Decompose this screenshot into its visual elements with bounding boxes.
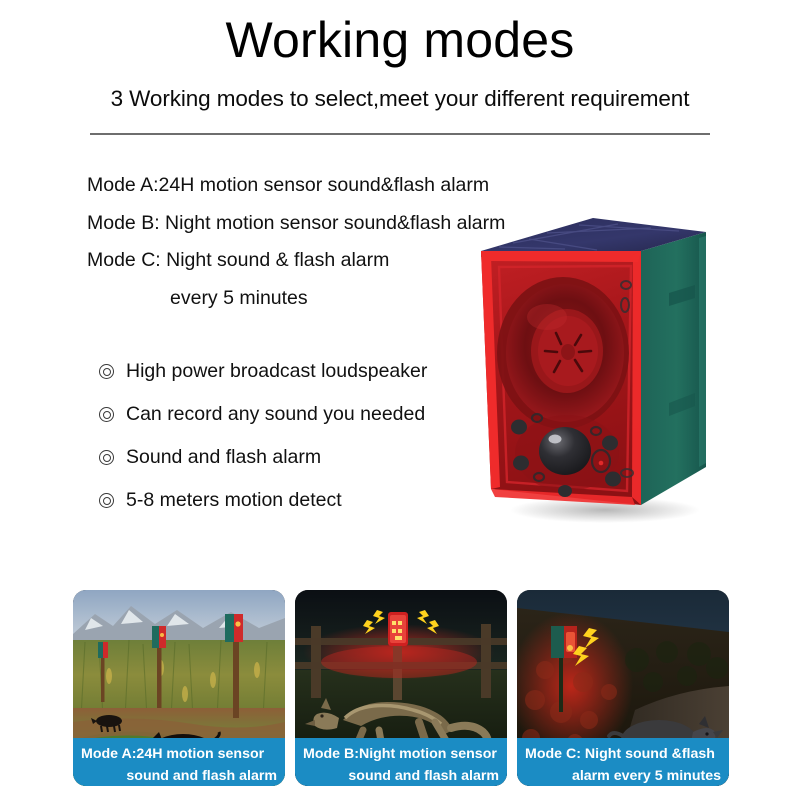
scenario-panel-b[interactable]: Mode B:Night motion sensor sound and fla…: [295, 590, 507, 786]
double-circle-icon: [99, 364, 114, 379]
product-feature-page: Working modes 3 Working modes to select,…: [0, 0, 800, 800]
horn-speaker-center: [561, 344, 575, 360]
product-device-image: [455, 205, 720, 525]
panel-caption: Mode C: Night sound &flash alarm every 5…: [517, 738, 729, 786]
feature-label: Sound and flash alarm: [126, 446, 321, 469]
device-front-rim-top: [481, 251, 641, 262]
panel-caption: Mode B:Night motion sensor sound and fla…: [295, 738, 507, 786]
double-circle-icon: [99, 493, 114, 508]
feature-label: Can record any sound you needed: [126, 403, 425, 426]
caption-line-1: Mode A:24H motion sensor: [81, 746, 264, 762]
caption-line-1: Mode C: Night sound &flash: [525, 746, 715, 762]
caption-line-2: alarm every 5 minutes: [525, 765, 721, 786]
scenario-panels: Mode A:24H motion sensor sound and flash…: [73, 590, 729, 786]
caption-line-1: Mode B:Night motion sensor: [303, 746, 497, 762]
pir-sensor-dome: [539, 427, 591, 475]
double-circle-icon: [99, 407, 114, 422]
caption-line-2: sound and flash alarm: [81, 765, 277, 786]
panel-caption: Mode A:24H motion sensor sound and flash…: [73, 738, 285, 786]
double-circle-icon: [99, 450, 114, 465]
device-body-highlight: [699, 236, 706, 467]
scenario-panel-a[interactable]: Mode A:24H motion sensor sound and flash…: [73, 590, 285, 786]
device-body-side: [641, 232, 706, 505]
feature-label: High power broadcast loudspeaker: [126, 360, 427, 383]
device-front-rim-right: [632, 251, 641, 505]
indicator-led: [599, 461, 604, 466]
pir-dome-glint: [549, 435, 562, 444]
caption-line-2: sound and flash alarm: [303, 765, 499, 786]
scenario-panel-c[interactable]: Mode C: Night sound &flash alarm every 5…: [517, 590, 729, 786]
alarm-device: [388, 612, 408, 646]
red-light-wash: [321, 646, 477, 678]
horn-speaker-gloss: [527, 304, 567, 330]
page-title: Working modes: [0, 14, 800, 67]
feature-label: 5-8 meters motion detect: [126, 489, 342, 512]
header-divider: [90, 133, 710, 135]
mode-line-a: Mode A:24H motion sensor sound&flash ala…: [87, 176, 557, 196]
page-subtitle: 3 Working modes to select,meet your diff…: [0, 86, 800, 112]
